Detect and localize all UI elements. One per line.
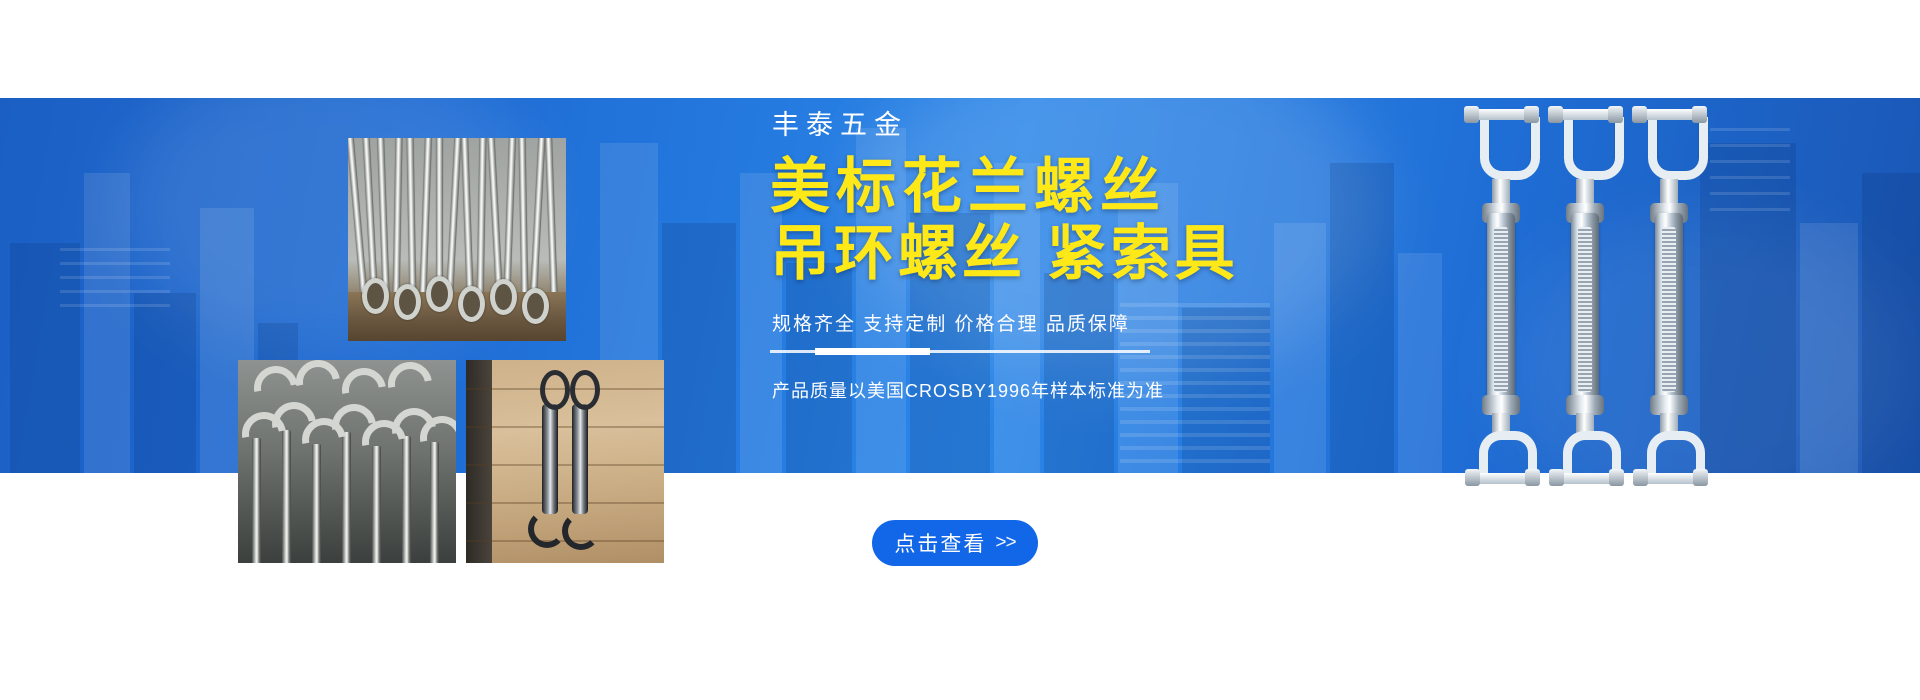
banner-stage: 丰泰五金 美标花兰螺丝 吊环螺丝 紧索具 规格齐全 支持定制 价格合理 品质保障…	[0, 0, 1920, 700]
headline-line-2: 吊环螺丝 紧索具	[770, 220, 1390, 287]
feature-list: 规格齐全 支持定制 价格合理 品质保障	[772, 309, 1390, 336]
product-turnbuckles-cutout	[1470, 95, 1720, 495]
turnbuckle-2	[1554, 95, 1616, 495]
turnbuckle-3	[1638, 95, 1700, 495]
divider-rule	[770, 350, 1150, 353]
view-details-button[interactable]: 点击查看 >>	[872, 520, 1038, 566]
double-chevron-right-icon: >>	[995, 532, 1015, 554]
photo-hook-turnbuckles-pile	[238, 360, 456, 563]
banner-copy: 丰泰五金 美标花兰螺丝 吊环螺丝 紧索具 规格齐全 支持定制 价格合理 品质保障…	[770, 112, 1390, 403]
brand-name: 丰泰五金	[772, 112, 1390, 139]
photo-galvanized-turnbuckles-standing	[348, 138, 566, 341]
photo-turnbuckles-on-plank	[466, 360, 664, 563]
headline-line-1: 美标花兰螺丝	[770, 153, 1390, 220]
standard-note: 产品质量以美国CROSBY1996年样本标准为准	[772, 377, 1390, 403]
turnbuckle-1	[1470, 95, 1532, 495]
cta-label: 点击查看	[894, 528, 986, 558]
